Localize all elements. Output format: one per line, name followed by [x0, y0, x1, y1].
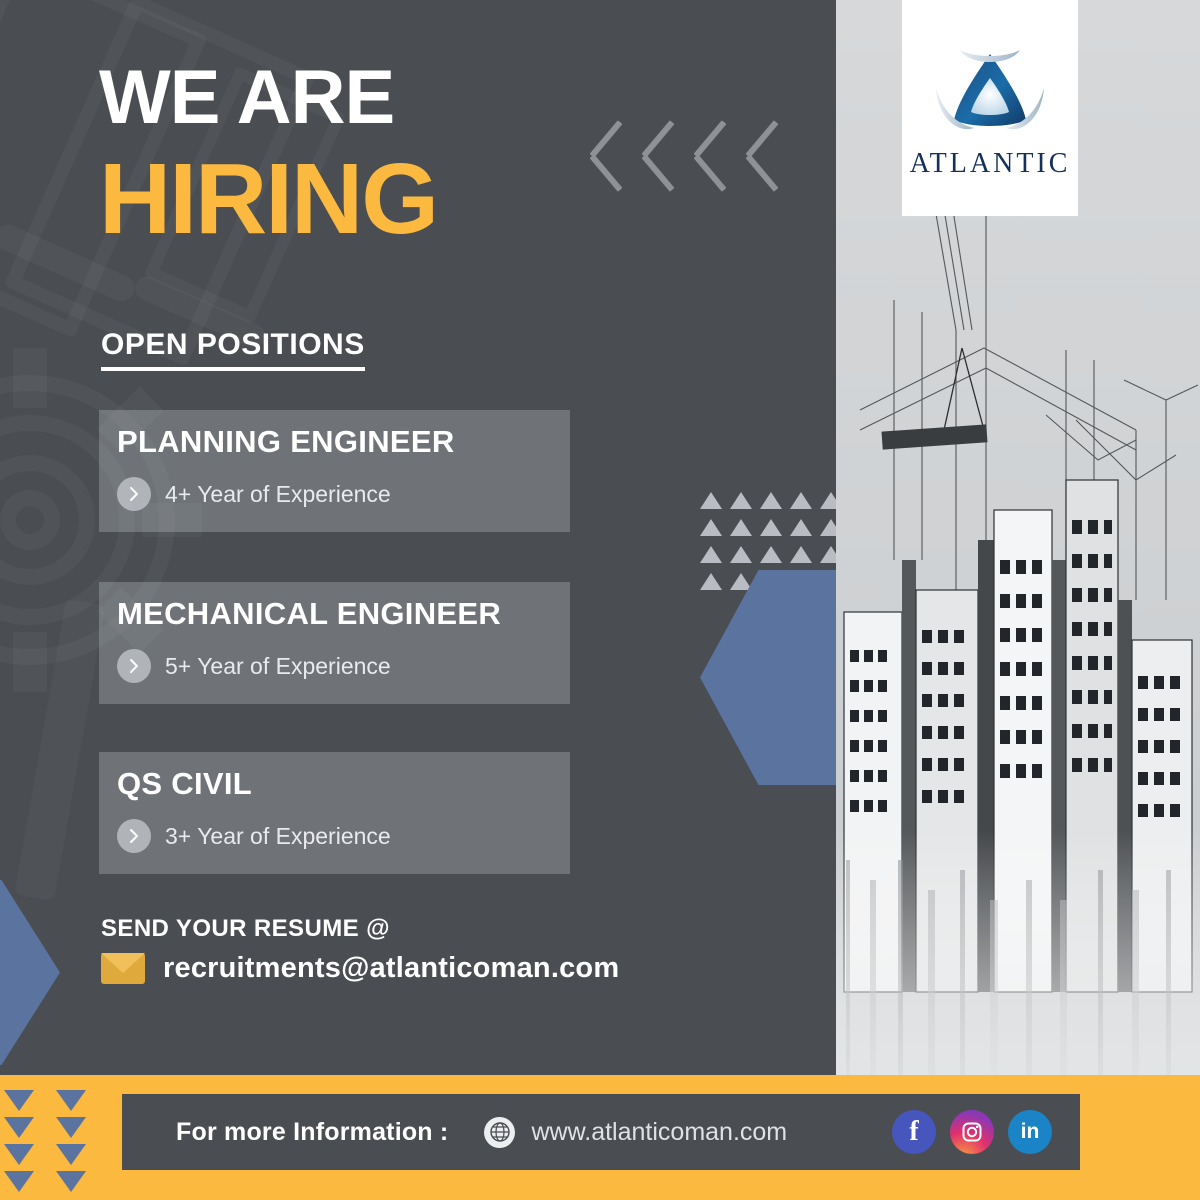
chevron-right-icon: [117, 477, 151, 511]
footer-triangle-decoration: [4, 1090, 108, 1198]
job-title: MECHANICAL ENGINEER: [117, 598, 552, 629]
chevron-left-icon: [742, 118, 784, 190]
job-title: QS CIVIL: [117, 768, 552, 799]
chevron-decoration: [586, 118, 784, 190]
open-positions-heading: OPEN POSITIONS: [101, 328, 365, 371]
send-resume-label: SEND YOUR RESUME @: [101, 915, 390, 943]
globe-icon: [484, 1117, 515, 1148]
job-card[interactable]: QS CIVIL 3+ Year of Experience: [99, 752, 570, 874]
chevron-left-icon: [690, 118, 732, 190]
chevron-left-icon: [638, 118, 680, 190]
resume-email-row[interactable]: recruitments@atlanticoman.com: [101, 952, 619, 985]
company-logo: ATLANTIC: [902, 0, 1078, 216]
atlantic-triangle-logo-icon: [930, 36, 1050, 146]
job-experience: 5+ Year of Experience: [165, 653, 391, 680]
chevron-right-icon: [117, 649, 151, 683]
website-url[interactable]: www.atlanticoman.com: [531, 1118, 787, 1147]
job-title: PLANNING ENGINEER: [117, 426, 552, 457]
instagram-icon[interactable]: [950, 1110, 994, 1154]
more-info-label: For more Information :: [176, 1118, 448, 1147]
logo-wordmark: ATLANTIC: [910, 148, 1071, 180]
hiring-poster: WE ARE HIRING OPEN POSITIONS PLANNING EN…: [0, 0, 1200, 1200]
resume-email[interactable]: recruitments@atlanticoman.com: [163, 952, 619, 985]
envelope-icon: [101, 953, 145, 984]
job-experience: 4+ Year of Experience: [165, 481, 391, 508]
job-card[interactable]: MECHANICAL ENGINEER 5+ Year of Experienc…: [99, 582, 570, 704]
linkedin-icon[interactable]: in: [1008, 1110, 1052, 1154]
facebook-icon[interactable]: f: [892, 1110, 936, 1154]
headline-line-1: WE ARE: [99, 62, 394, 134]
chevron-right-icon: [117, 819, 151, 853]
social-links: f in: [892, 1110, 1052, 1154]
job-experience: 3+ Year of Experience: [165, 823, 391, 850]
footer-info-bar: For more Information : www.atlanticoman.…: [122, 1094, 1080, 1170]
job-card[interactable]: PLANNING ENGINEER 4+ Year of Experience: [99, 410, 570, 532]
chevron-left-icon: [586, 118, 628, 190]
headline-line-2: HIRING: [99, 152, 437, 247]
